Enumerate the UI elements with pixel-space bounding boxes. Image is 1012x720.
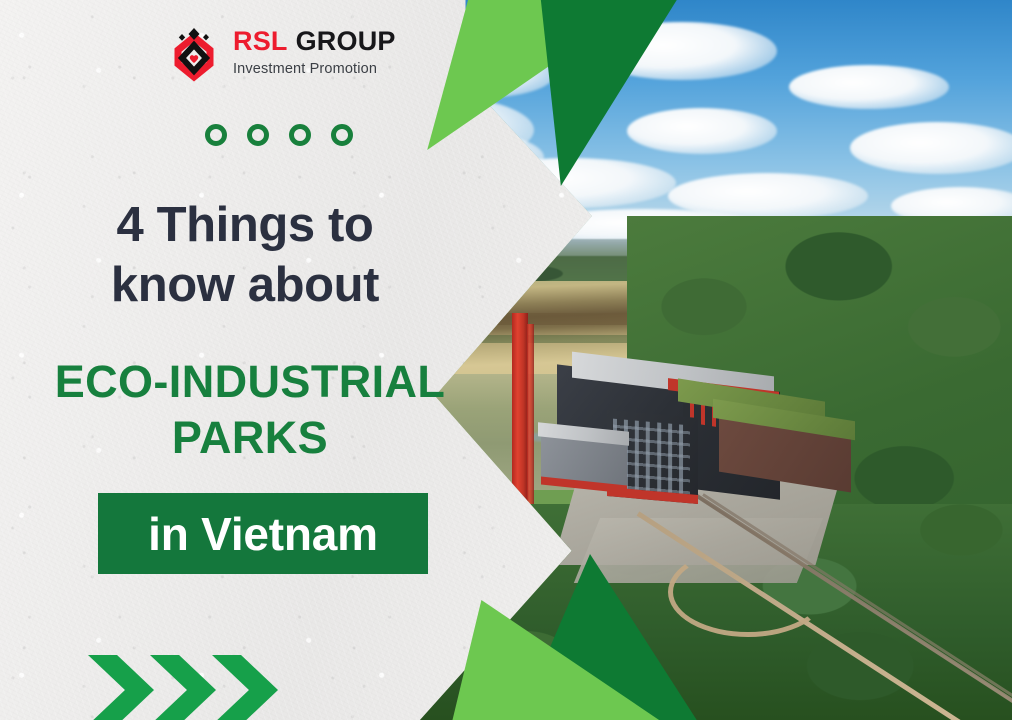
circle-outline-icon (205, 124, 227, 146)
circle-outline-icon (247, 124, 269, 146)
red-chimney-stack (527, 324, 534, 504)
location-badge: in Vietnam (98, 493, 428, 574)
page-title: 4 Things to know about (0, 196, 490, 316)
chevron-right-icon (150, 655, 216, 720)
brand-name-primary: RSL (233, 26, 288, 56)
top-arrow-decoration (418, 0, 678, 213)
brand-logo[interactable]: RSLGROUP Investment Promotion (163, 26, 378, 84)
cloud (789, 65, 949, 109)
chevron-right-icon (88, 655, 154, 720)
location-badge-label: in Vietnam (148, 511, 378, 557)
brand-name-secondary: GROUP (296, 26, 396, 56)
chevron-right-icon (212, 655, 278, 720)
brand-name: RSLGROUP (233, 28, 396, 55)
subhead-line-1: ECO-INDUSTRIAL (0, 354, 500, 410)
poster-canvas: RSLGROUP Investment Promotion 4 Things t… (0, 0, 1012, 720)
circle-outline-icon (289, 124, 311, 146)
bottom-arrow-decoration (452, 540, 692, 720)
headline-line-1: 4 Things to (0, 196, 490, 256)
subhead-line-2: PARKS (0, 410, 500, 466)
chevron-group (88, 655, 308, 720)
headline-line-2: know about (0, 256, 490, 316)
rsl-diamond-heart-logo-icon (163, 28, 225, 82)
dot-divider (205, 124, 353, 146)
brand-tagline: Investment Promotion (233, 61, 396, 77)
brand-wordmark: RSLGROUP Investment Promotion (233, 28, 396, 77)
page-subtitle: ECO-INDUSTRIAL PARKS (0, 354, 500, 467)
red-chimney-stack (512, 313, 528, 507)
circle-outline-icon (331, 124, 353, 146)
